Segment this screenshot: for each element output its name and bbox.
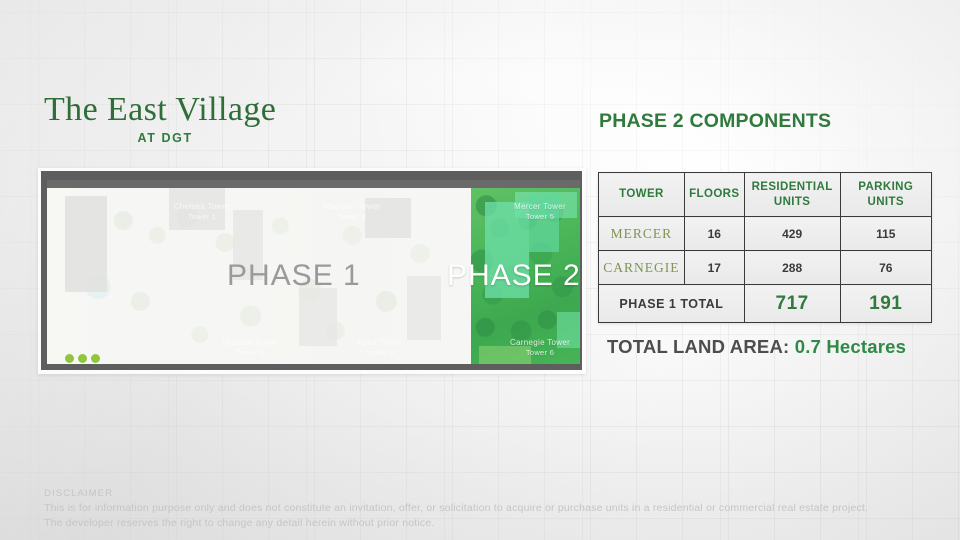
plan-label-tower: Tower 4 — [325, 348, 435, 357]
total-land-area-value: 0.7 Hectares — [795, 336, 906, 357]
column-header-residential-line1: RESIDENTIAL — [745, 180, 840, 194]
plan-label-tower-5: Mercer Tower Tower 5 — [485, 202, 580, 221]
table-row: CARNEGIE 17 288 76 — [599, 251, 932, 285]
brand-logo: The East Village AT DGT — [44, 92, 276, 145]
column-header-parking-line2: UNITS — [841, 195, 932, 209]
components-heading: PHASE 2 COMPONENTS — [599, 110, 831, 133]
column-header-parking: PARKING UNITS — [840, 173, 932, 217]
plan-label-name: Carnegie Tower — [485, 338, 580, 348]
plan-label-tower: Tower 6 — [485, 348, 580, 357]
tree-marker — [65, 354, 74, 363]
plan-label-tower-2: Hudson Tower Tower 2 — [195, 338, 305, 357]
plan-label-tower-1: Chelsea Tower Tower 1 — [147, 202, 257, 221]
plan-label-tower-4: Astor Tower Tower 4 — [325, 338, 435, 357]
phase-1-overlay-label: PHASE 1 — [227, 259, 361, 293]
disclaimer-line-1: This is for information purpose only and… — [44, 501, 924, 516]
plan-label-tower-6: Carnegie Tower Tower 6 — [485, 338, 580, 357]
cell-total-parking: 191 — [840, 285, 932, 323]
plan-label-name: Madison Tower — [297, 202, 407, 212]
table-row: MERCER 16 429 115 — [599, 217, 932, 251]
site-plan-top-band — [47, 180, 580, 188]
cell-residential-mercer: 429 — [744, 217, 840, 251]
tree-marker — [91, 354, 100, 363]
table-total-row: PHASE 1 TOTAL 717 191 — [599, 285, 932, 323]
cell-tower-mercer: MERCER — [599, 217, 685, 251]
disclaimer: DISCLAIMER This is for information purpo… — [44, 487, 924, 531]
column-header-residential-line2: UNITS — [745, 195, 840, 209]
plan-label-tower: Tower 3 — [297, 212, 407, 221]
phase-2-overlay-label: PHASE 2 — [447, 259, 580, 293]
site-plan-frame: Chelsea Tower Tower 1 Hudson Tower Tower… — [41, 171, 582, 370]
tree-marker — [78, 354, 87, 363]
disclaimer-title: DISCLAIMER — [44, 487, 924, 501]
total-land-area: TOTAL LAND AREA: 0.7 Hectares — [607, 336, 906, 358]
brand-title: The East Village — [44, 92, 276, 128]
cell-floors-mercer: 16 — [684, 217, 744, 251]
column-header-floors: FLOORS — [684, 173, 744, 217]
cell-total-label: PHASE 1 TOTAL — [599, 285, 745, 323]
cell-floors-carnegie: 17 — [684, 251, 744, 285]
column-header-parking-line1: PARKING — [841, 180, 932, 194]
plan-label-tower: Tower 1 — [147, 212, 257, 221]
brand-subtitle: AT DGT — [44, 131, 276, 145]
cell-parking-mercer: 115 — [840, 217, 932, 251]
plan-label-name: Mercer Tower — [485, 202, 580, 212]
site-plan-canvas: Chelsea Tower Tower 1 Hudson Tower Tower… — [47, 180, 580, 364]
total-land-area-label: TOTAL LAND AREA: — [607, 336, 789, 357]
plan-label-tower: Tower 2 — [195, 348, 305, 357]
plan-label-name: Astor Tower — [325, 338, 435, 348]
plan-label-tower: Tower 5 — [485, 212, 580, 221]
cell-tower-carnegie: CARNEGIE — [599, 251, 685, 285]
plan-label-tower-3: Madison Tower Tower 3 — [297, 202, 407, 221]
site-plan[interactable]: Chelsea Tower Tower 1 Hudson Tower Tower… — [38, 168, 586, 374]
plan-label-name: Chelsea Tower — [147, 202, 257, 212]
column-header-tower: TOWER — [599, 173, 685, 217]
disclaimer-line-2: The developer reserves the right to chan… — [44, 516, 924, 531]
components-table: TOWER FLOORS RESIDENTIAL UNITS PARKING U… — [598, 172, 932, 323]
cell-total-residential: 717 — [744, 285, 840, 323]
plan-label-name: Hudson Tower — [195, 338, 305, 348]
cell-residential-carnegie: 288 — [744, 251, 840, 285]
cell-parking-carnegie: 76 — [840, 251, 932, 285]
table-header-row: TOWER FLOORS RESIDENTIAL UNITS PARKING U… — [599, 173, 932, 217]
column-header-residential: RESIDENTIAL UNITS — [744, 173, 840, 217]
